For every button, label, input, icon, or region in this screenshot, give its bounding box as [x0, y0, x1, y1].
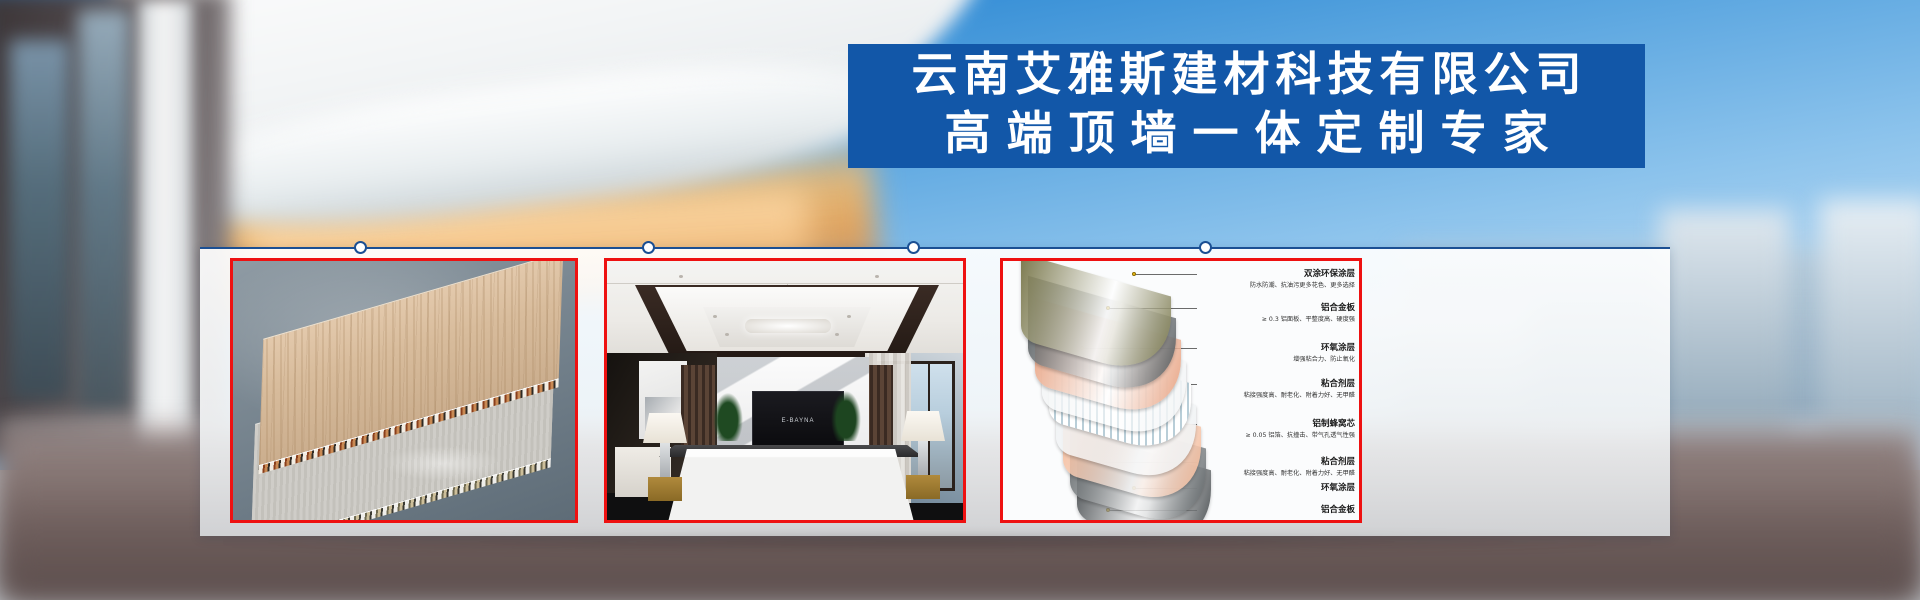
table-reflection — [383, 446, 503, 481]
reception-counter — [667, 449, 915, 520]
layer-desc-6: 粘接强度高、耐老化、附着力好、无甲醛 — [1197, 469, 1355, 478]
layer-structure-diagram[interactable]: 双涂环保涂层防水防潮、抗油污更多花色、更多选择铝合金板≥ 0.3 铝面板、平整度… — [1000, 258, 1362, 523]
banner-stage: 云南艾雅斯建材科技有限公司 高端顶墙一体定制专家 — [0, 0, 1920, 600]
layer-label-8: 铝合金板 — [1197, 505, 1355, 516]
layer-title-1: 双涂环保涂层 — [1197, 269, 1355, 280]
layer-desc-5: ≥ 0.05 铝箔、抗撞击、带气孔透气性强 — [1197, 431, 1355, 440]
table-lamp-right — [901, 411, 945, 499]
layer-label-4: 粘合剂层粘接强度高、耐老化、附着力好、无甲醛 — [1197, 379, 1355, 400]
layer-title-7: 环氧涂层 — [1197, 483, 1355, 494]
company-slogan-line: 高端顶墙一体定制专家 — [929, 104, 1565, 163]
layer-desc-4: 粘接强度高、耐老化、附着力好、无甲醛 — [1197, 391, 1355, 400]
layer-label-6: 粘合剂层粘接强度高、耐老化、附着力好、无甲醛 — [1197, 457, 1355, 478]
gallery-guide-line — [200, 247, 1670, 249]
gallery-panel-shadow — [214, 534, 1660, 550]
company-name-line: 云南艾雅斯建材科技有限公司 — [906, 45, 1588, 104]
layer-label-1: 双涂环保涂层防水防潮、抗油污更多花色、更多选择 — [1197, 269, 1355, 290]
distant-building-3 — [1820, 200, 1920, 440]
layer-desc-1: 防水防潮、抗油污更多花色、更多选择 — [1197, 281, 1355, 290]
ceiling-seam — [607, 283, 963, 284]
layer-title-3: 环氧涂层 — [1197, 343, 1355, 354]
ceiling-downlight-2 — [875, 275, 879, 278]
gallery-handle-mid-right[interactable] — [907, 241, 920, 254]
layer-desc-2: ≥ 0.3 铝面板、平整度高、硬度强 — [1197, 315, 1355, 324]
coffer-spot-3 — [725, 333, 729, 336]
tv-logo-text: E-BAYNA — [782, 418, 815, 424]
layer-node-dot-1 — [1132, 272, 1136, 276]
coffer-spot-1 — [713, 315, 717, 318]
plant-left — [711, 389, 745, 441]
layer-desc-3: 增强粘合力、防止氧化 — [1197, 355, 1355, 364]
plant-right — [829, 387, 863, 441]
coffer-spot-2 — [847, 315, 851, 318]
layer-label-column: 双涂环保涂层防水防潮、抗油污更多花色、更多选择铝合金板≥ 0.3 铝面板、平整度… — [1197, 267, 1355, 519]
gallery-handle-right[interactable] — [1199, 241, 1212, 254]
gallery-handle-mid-left[interactable] — [642, 241, 655, 254]
gallery-handle-left[interactable] — [354, 241, 367, 254]
layer-title-4: 粘合剂层 — [1197, 379, 1355, 390]
left-pillar — [138, 0, 192, 470]
distant-building-2 — [1660, 210, 1790, 440]
layer-label-7: 环氧涂层 — [1197, 483, 1355, 494]
table-lamp-left — [643, 413, 687, 501]
ceiling-downlight-1 — [679, 275, 683, 278]
left-glass-panel-2 — [78, 10, 130, 410]
company-title-banner: 云南艾雅斯建材科技有限公司 高端顶墙一体定制专家 — [848, 44, 1645, 168]
layer-title-6: 粘合剂层 — [1197, 457, 1355, 468]
layer-title-8: 铝合金板 — [1197, 505, 1355, 516]
layer-leader-line-1 — [1135, 274, 1197, 275]
coffer-spot-4 — [835, 333, 839, 336]
left-glass-panel-1 — [10, 40, 70, 400]
layer-label-2: 铝合金板≥ 0.3 铝面板、平整度高、硬度强 — [1197, 303, 1355, 324]
layer-title-5: 铝制蜂窝芯 — [1197, 419, 1355, 430]
layer-title-2: 铝合金板 — [1197, 303, 1355, 314]
honeycomb-panel-photo[interactable] — [230, 258, 578, 523]
ceiling-light-fixture — [745, 319, 831, 333]
layer-label-5: 铝制蜂窝芯≥ 0.05 铝箔、抗撞击、带气孔透气性强 — [1197, 419, 1355, 440]
exploded-layer-stack — [1007, 269, 1217, 519]
interior-render-photo[interactable]: E-BAYNA — [604, 258, 966, 523]
layer-label-3: 环氧涂层增强粘合力、防止氧化 — [1197, 343, 1355, 364]
